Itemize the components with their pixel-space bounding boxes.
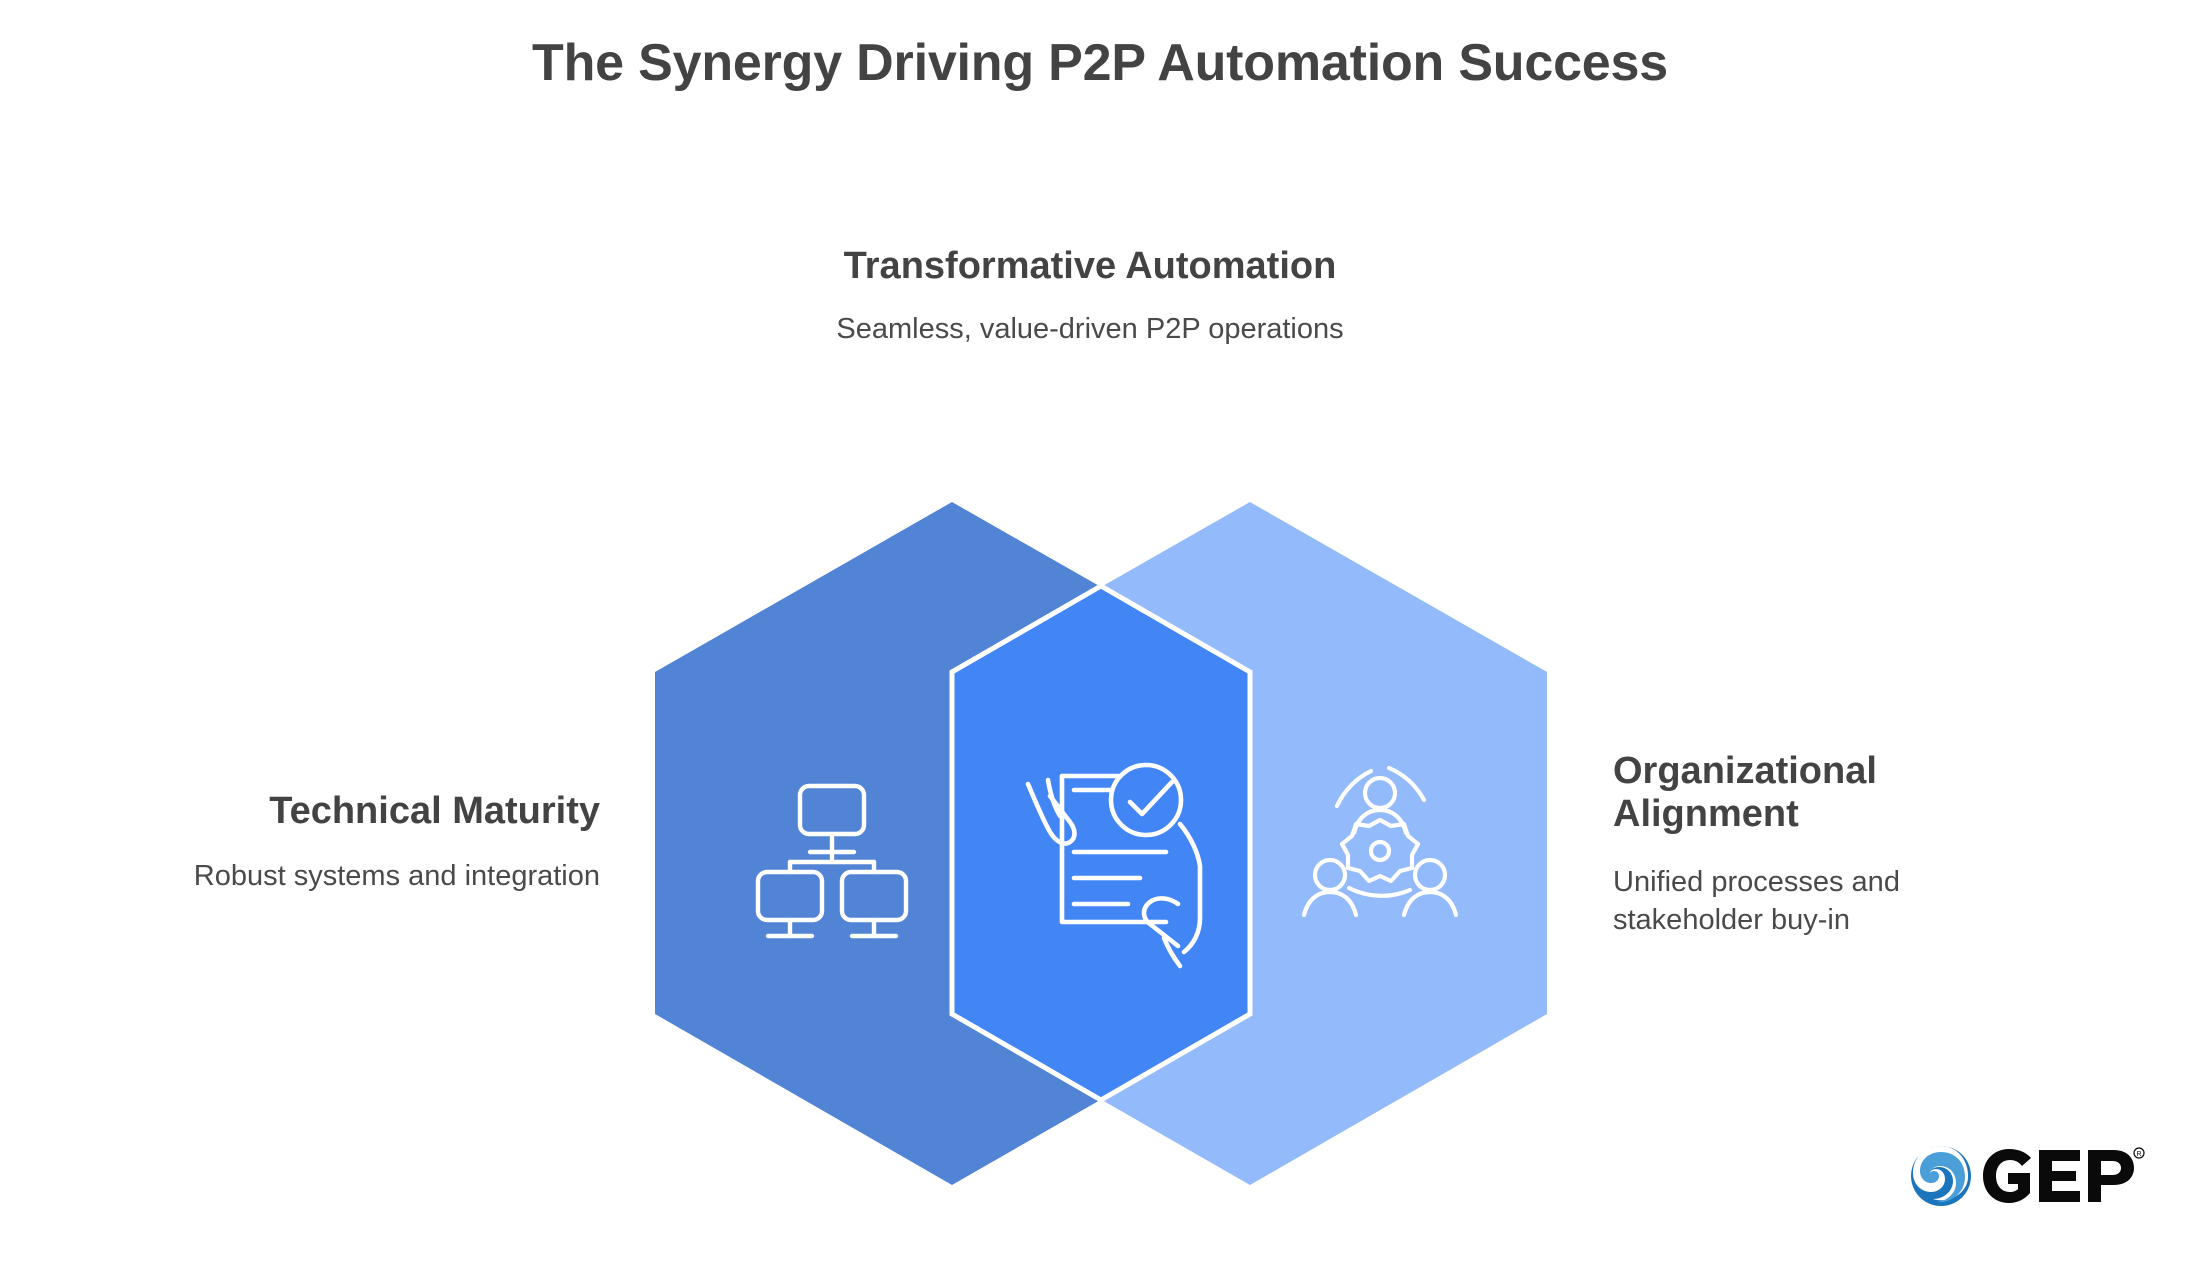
node-transformative-automation: Transformative Automation Seamless, valu… — [830, 245, 1350, 349]
hexagon-transformative-automation[interactable] — [952, 586, 1250, 1100]
venn-diagram: Transformative Automation Seamless, valu… — [0, 0, 2200, 1262]
node-heading-organizational-alignment: Organizational Alignment — [1613, 750, 2033, 837]
node-heading-technical-maturity: Technical Maturity — [110, 790, 600, 833]
gep-swirl-icon — [1911, 1146, 1971, 1206]
registered-trademark-icon: R — [2134, 1148, 2144, 1158]
gep-logo-svg: R — [1910, 1140, 2145, 1212]
gep-logo: R — [1910, 1140, 2145, 1212]
node-description-organizational-alignment: Unified processes and stakeholder buy-in — [1613, 863, 2033, 940]
node-technical-maturity: Technical Maturity Robust systems and in… — [110, 790, 600, 896]
gep-wordmark — [1983, 1149, 2134, 1203]
node-description-transformative-automation: Seamless, value-driven P2P operations — [830, 310, 1350, 348]
node-organizational-alignment: Organizational Alignment Unified process… — [1613, 750, 2033, 939]
node-description-technical-maturity: Robust systems and integration — [110, 857, 600, 895]
venn-hexagons-svg — [0, 0, 2200, 1262]
node-heading-transformative-automation: Transformative Automation — [830, 245, 1350, 288]
svg-text:R: R — [2136, 1151, 2141, 1158]
